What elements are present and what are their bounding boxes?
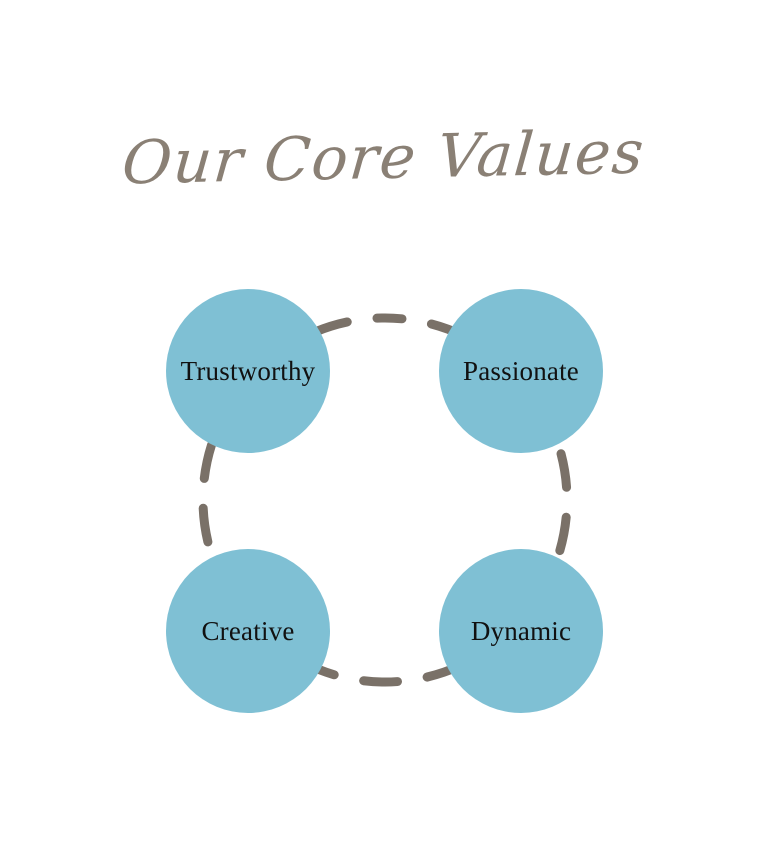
value-bubble-trustworthy[interactable]: Trustworthy xyxy=(166,289,330,453)
value-bubble-creative[interactable]: Creative xyxy=(166,549,330,713)
value-label-trustworthy: Trustworthy xyxy=(181,356,316,386)
value-bubble-dynamic[interactable]: Dynamic xyxy=(439,549,603,713)
values-diagram: Trustworthy Passionate Creative Dynamic xyxy=(0,0,768,841)
value-bubble-passionate[interactable]: Passionate xyxy=(439,289,603,453)
core-values-infographic: Our Core Values Trustworthy Passionate C… xyxy=(0,0,768,841)
value-label-creative: Creative xyxy=(201,616,294,646)
value-label-dynamic: Dynamic xyxy=(471,616,571,646)
dashed-ring-connector xyxy=(0,0,768,841)
value-label-passionate: Passionate xyxy=(463,356,579,386)
